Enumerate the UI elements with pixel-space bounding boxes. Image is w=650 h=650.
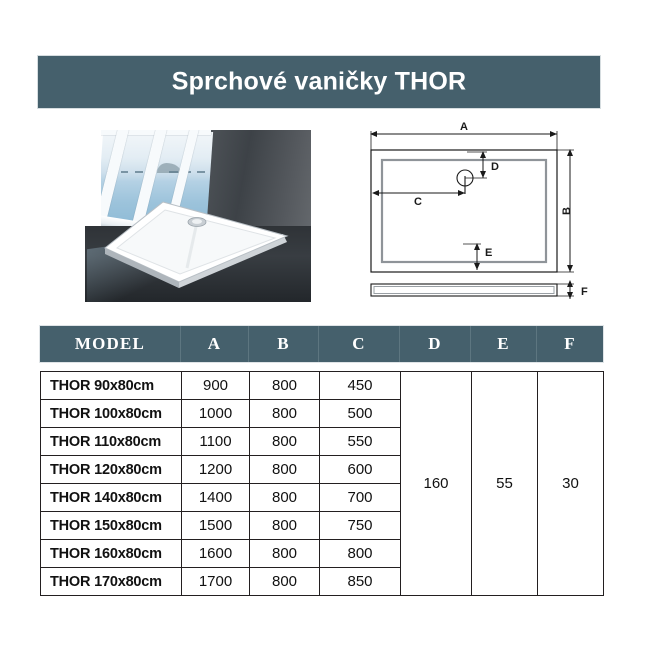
cell-c: 500 — [320, 400, 401, 428]
product-photo — [85, 130, 311, 302]
spec-table: THOR 90x80cm9008004501605530THOR 100x80c… — [40, 371, 604, 596]
cell-c: 850 — [320, 568, 401, 596]
cell-b: 800 — [250, 568, 320, 596]
photo-boat — [121, 171, 128, 173]
photo-boat — [197, 171, 205, 173]
shower-tray-illustration — [101, 196, 291, 292]
cell-a: 1400 — [182, 484, 250, 512]
cell-c: 800 — [320, 540, 401, 568]
cell-c: 450 — [320, 372, 401, 400]
dimension-label-d: D — [491, 161, 499, 173]
cell-a: 1000 — [182, 400, 250, 428]
cell-model: THOR 90x80cm — [41, 372, 182, 400]
dimension-label-e: E — [485, 247, 492, 259]
column-header-c: C — [319, 326, 400, 362]
dimension-label-b: B — [561, 207, 573, 215]
cell-b: 800 — [250, 428, 320, 456]
photo-boat — [135, 171, 143, 173]
technical-drawing: A B D C E — [355, 120, 603, 312]
spec-table-header: MODEL A B C D E F — [40, 326, 603, 362]
cell-b: 800 — [250, 400, 320, 428]
cell-e-merged: 55 — [472, 372, 538, 596]
cell-model: THOR 120x80cm — [41, 456, 182, 484]
cell-model: THOR 150x80cm — [41, 512, 182, 540]
cell-b: 800 — [250, 540, 320, 568]
title-banner: Sprchové vaničky THOR — [38, 56, 600, 108]
product-spec-page: Sprchové vaničky THOR — [0, 0, 650, 650]
cell-c: 750 — [320, 512, 401, 540]
cell-b: 800 — [250, 372, 320, 400]
cell-model: THOR 170x80cm — [41, 568, 182, 596]
page-title: Sprchové vaničky THOR — [38, 68, 600, 97]
cell-b: 800 — [250, 484, 320, 512]
cell-a: 1500 — [182, 512, 250, 540]
cell-b: 800 — [250, 512, 320, 540]
table-row: THOR 90x80cm9008004501605530 — [41, 372, 604, 400]
column-header-d: D — [400, 326, 471, 362]
dimension-label-f: F — [581, 286, 588, 298]
dimension-label-c: C — [414, 196, 422, 208]
column-header-f: F — [537, 326, 603, 362]
cell-f-merged: 30 — [538, 372, 604, 596]
photo-shower-tray — [101, 196, 291, 292]
cell-c: 700 — [320, 484, 401, 512]
cell-c: 600 — [320, 456, 401, 484]
cell-model: THOR 160x80cm — [41, 540, 182, 568]
dimension-label-a: A — [460, 121, 468, 133]
column-header-b: B — [249, 326, 319, 362]
column-header-e: E — [471, 326, 537, 362]
cell-c: 550 — [320, 428, 401, 456]
column-header-a: A — [181, 326, 249, 362]
cell-a: 1600 — [182, 540, 250, 568]
cell-model: THOR 100x80cm — [41, 400, 182, 428]
cell-a: 900 — [182, 372, 250, 400]
cell-a: 1700 — [182, 568, 250, 596]
cell-a: 1200 — [182, 456, 250, 484]
cell-a: 1100 — [182, 428, 250, 456]
photo-boat — [169, 171, 178, 173]
cell-b: 800 — [250, 456, 320, 484]
column-header-model: MODEL — [40, 326, 181, 362]
cell-model: THOR 140x80cm — [41, 484, 182, 512]
cell-d-merged: 160 — [401, 372, 472, 596]
cell-model: THOR 110x80cm — [41, 428, 182, 456]
